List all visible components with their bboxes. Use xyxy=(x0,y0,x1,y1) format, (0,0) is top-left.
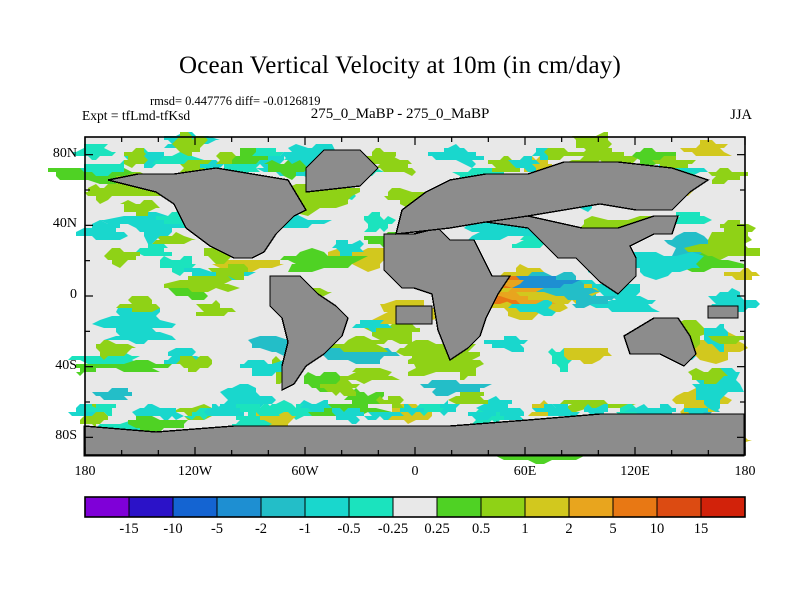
colorbar-segment[interactable] xyxy=(217,497,261,517)
colorbar-segment[interactable] xyxy=(85,497,129,517)
y-axis-tick-label: 80S xyxy=(25,428,77,444)
colorbar-segment[interactable] xyxy=(613,497,657,517)
colorbar-segment[interactable] xyxy=(393,497,437,517)
y-axis-tick-label: 40N xyxy=(25,216,77,232)
map-plot-area xyxy=(0,0,800,600)
x-axis-tick-label: 180 xyxy=(55,464,115,480)
colorbar-tick-label: 15 xyxy=(671,521,731,538)
land-polygon xyxy=(708,306,738,318)
colorbar-segment[interactable] xyxy=(305,497,349,517)
x-axis-tick-label: 60E xyxy=(495,464,555,480)
x-axis-tick-label: 60W xyxy=(275,464,335,480)
colorbar-segment[interactable] xyxy=(129,497,173,517)
colorbar-segment[interactable] xyxy=(657,497,701,517)
colorbar-segment[interactable] xyxy=(569,497,613,517)
colorbar-segment[interactable] xyxy=(525,497,569,517)
x-axis-tick-label: 120W xyxy=(165,464,225,480)
colorbar-segment[interactable] xyxy=(349,497,393,517)
colorbar xyxy=(85,497,745,517)
y-axis-tick-label: 40S xyxy=(25,358,77,374)
colorbar-segment[interactable] xyxy=(437,497,481,517)
x-axis-tick-label: 180 xyxy=(715,464,775,480)
y-axis-tick-label: 0 xyxy=(25,287,77,303)
land-polygon xyxy=(396,306,432,324)
colorbar-segment[interactable] xyxy=(261,497,305,517)
y-axis-tick-label: 80N xyxy=(25,146,77,162)
figure-canvas: Ocean Vertical Velocity at 10m (in cm/da… xyxy=(0,0,800,600)
colorbar-segment[interactable] xyxy=(481,497,525,517)
colorbar-segment[interactable] xyxy=(701,497,745,517)
x-axis-tick-label: 120E xyxy=(605,464,665,480)
x-axis-tick-label: 0 xyxy=(385,464,445,480)
colorbar-segment[interactable] xyxy=(173,497,217,517)
